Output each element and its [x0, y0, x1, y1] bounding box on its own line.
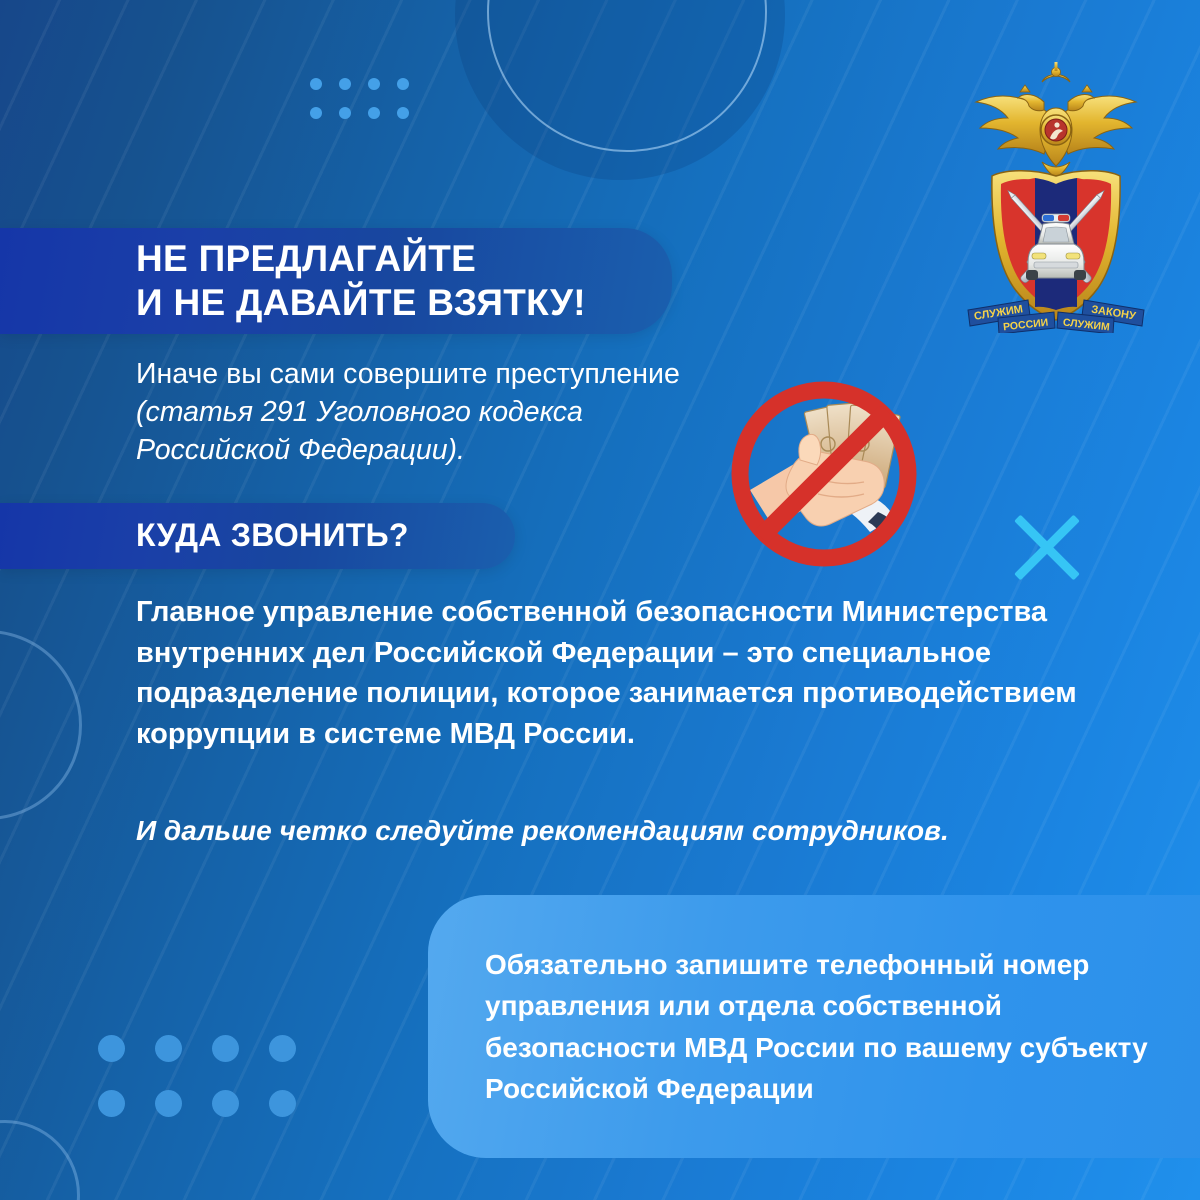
- where-to-call-banner: КУДА ЗВОНИТЬ?: [0, 503, 515, 569]
- mvd-emblem: СЛУЖИМ ЗАКОНУ РОССИИ СЛУЖИМ: [958, 48, 1154, 333]
- shield-group: [992, 171, 1120, 320]
- follow-recommendations-text: И дальше четко следуйте рекомендациям со…: [136, 812, 1096, 850]
- callout-text: Обязательно запишите телефонный номер уп…: [428, 944, 1200, 1109]
- poster-canvas: СЛУЖИМ ЗАКОНУ РОССИИ СЛУЖИМ НЕ ПРЕДЛАГАЙ…: [0, 0, 1200, 1200]
- decor-dot-grid-bottom: [98, 1035, 296, 1117]
- callout-card: Обязательно запишите телефонный номер уп…: [428, 895, 1200, 1158]
- decor-x-cross-icon: [1005, 505, 1089, 589]
- gusb-description: Главное управление собственной безопасно…: [136, 592, 1096, 754]
- intro-italic-law-reference: (статья 291 Уголовного кодекса Российско…: [136, 396, 583, 466]
- headline-banner: НЕ ПРЕДЛАГАЙТЕ И НЕ ДАВАЙТЕ ВЗЯТКУ!: [0, 228, 672, 334]
- intro-plain-text: Иначе вы сами совершите преступление: [136, 358, 680, 390]
- decor-ring-bottom-left: [0, 1120, 80, 1200]
- where-to-call-text: КУДА ЗВОНИТЬ?: [136, 517, 409, 555]
- intro-paragraph: Иначе вы сами совершите преступление (ст…: [136, 355, 736, 470]
- no-bribe-icon: [722, 372, 926, 576]
- eagle-group: [976, 62, 1136, 176]
- decor-dot-grid-top: [310, 78, 409, 119]
- decor-ring-left: [0, 630, 82, 820]
- headline-text: НЕ ПРЕДЛАГАЙТЕ И НЕ ДАВАЙТЕ ВЗЯТКУ!: [136, 237, 586, 324]
